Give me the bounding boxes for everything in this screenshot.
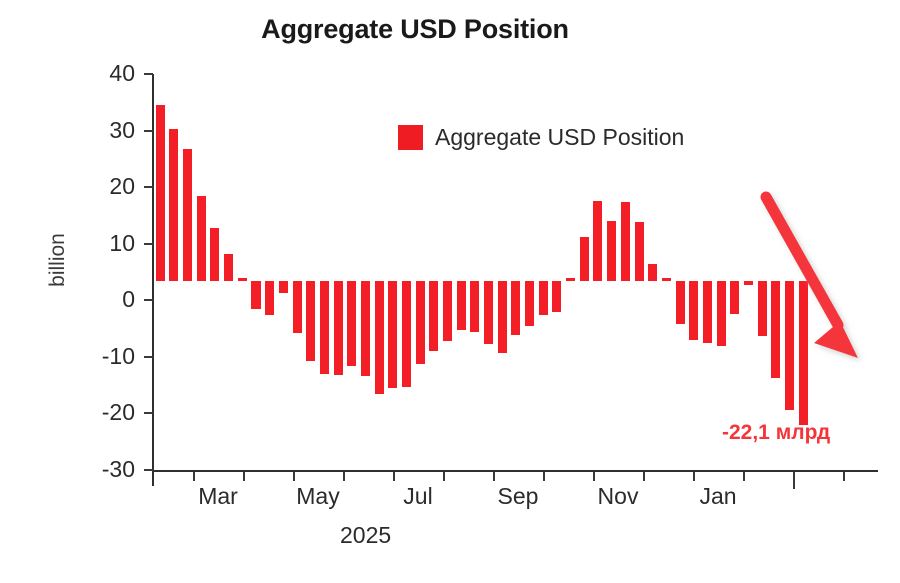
y-axis-title: billion [46,200,70,320]
downtrend-arrow-icon [740,180,880,380]
bar [197,196,206,281]
bar [361,281,370,376]
x-tick-mark [193,472,195,481]
bar [484,281,493,344]
y-tick-mark [144,469,153,471]
bar [183,149,192,281]
x-axis-title: 2025 [340,522,391,549]
x-tick-mark [693,472,695,481]
bar [580,237,589,281]
bar [552,281,561,312]
bar [224,254,233,281]
bar [429,281,438,351]
bar [402,281,411,387]
bar [169,129,178,281]
bar [539,281,548,315]
legend-swatch-icon [398,125,423,150]
bar [689,281,698,340]
x-tick-mark [643,472,645,481]
x-tick-label: Jul [373,483,463,510]
bar [525,281,534,326]
bar [443,281,452,341]
x-tick-mark [593,472,595,481]
x-tick-mark [843,472,845,481]
x-tick-mark [443,472,445,481]
legend-label: Aggregate USD Position [435,124,684,151]
x-tick-mark [393,472,395,481]
y-tick-mark [144,73,153,75]
bar [635,222,644,281]
bar [730,281,739,314]
y-tick-label: -20 [73,401,135,424]
bar [416,281,425,364]
bar [388,281,397,388]
x-tick-mark [793,472,795,489]
x-tick-mark [293,472,295,481]
bar [334,281,343,375]
bar [279,281,288,293]
y-tick-label: -30 [73,458,135,481]
y-tick-label: 10 [73,232,135,255]
y-tick-label: 20 [73,175,135,198]
y-tick-mark [144,299,153,301]
y-tick-mark [144,130,153,132]
y-tick-label: 0 [73,288,135,311]
bar [251,281,260,309]
final-value-callout: -22,1 млрд [722,421,830,445]
bar [238,278,247,281]
x-tick-label: Mar [173,483,263,510]
y-tick-label: 40 [73,62,135,85]
x-tick-label: Nov [573,483,663,510]
x-axis-line [152,470,878,472]
bar [717,281,726,346]
y-tick-mark [144,186,153,188]
x-tick-mark [543,472,545,481]
y-tick-label: -10 [73,345,135,368]
bar [511,281,520,335]
bar [607,221,616,282]
y-tick-label: 30 [73,119,135,142]
bar [156,105,165,281]
bar [457,281,466,330]
bar [566,278,575,281]
x-tick-label: May [273,483,363,510]
x-tick-mark [243,472,245,481]
x-tick-mark [343,472,345,481]
bar [265,281,274,315]
bar [293,281,302,333]
bar [306,281,315,361]
bar [621,202,630,281]
chart-title: Aggregate USD Position [0,14,830,45]
y-tick-mark [144,356,153,358]
bar [498,281,507,353]
bar [210,228,219,281]
x-tick-label: Jan [673,483,763,510]
y-tick-mark [144,243,153,245]
chart-legend: Aggregate USD Position [398,124,684,151]
bar [320,281,329,374]
bar [347,281,356,366]
bar [470,281,479,332]
x-tick-label: Sep [473,483,563,510]
bar [676,281,685,324]
bar [703,281,712,343]
chart-container: Aggregate USD Position billion 403020100… [0,0,900,583]
bar [648,264,657,281]
bar [375,281,384,394]
x-tick-mark [743,472,745,481]
y-tick-mark [144,412,153,414]
bar [593,201,602,281]
bar [662,278,671,281]
x-tick-mark [493,472,495,481]
